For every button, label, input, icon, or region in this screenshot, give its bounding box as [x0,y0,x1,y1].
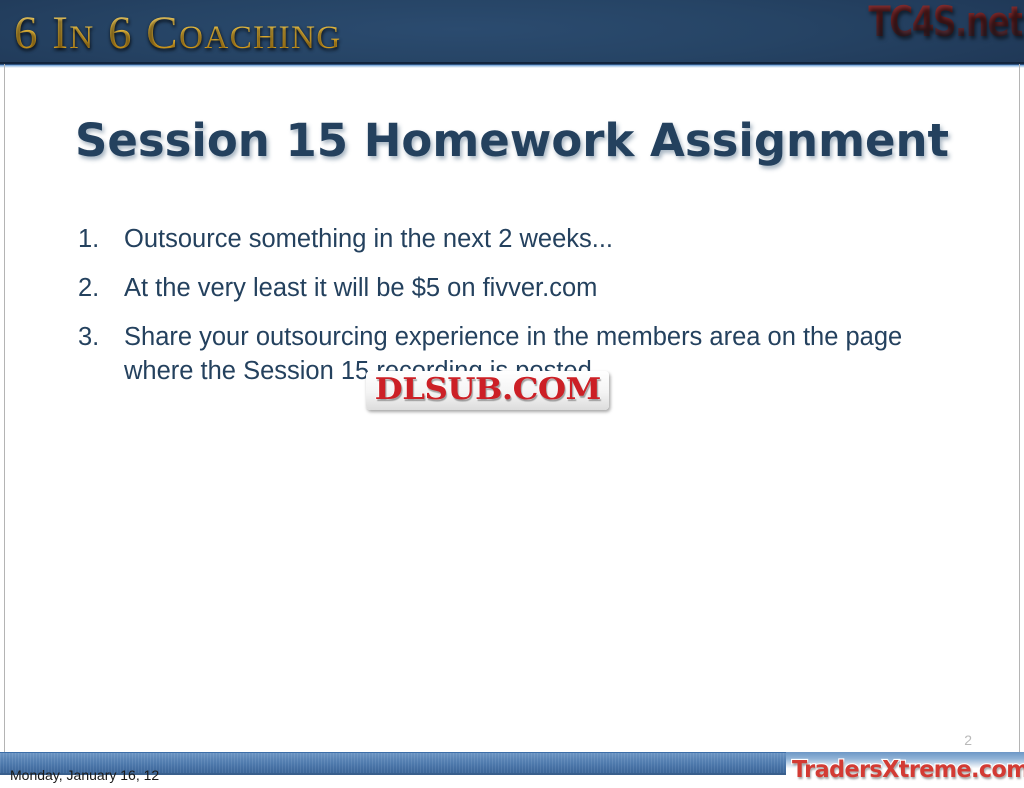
tradersxtreme-logo-container: TradersXtreme.com [786,752,1024,788]
list-item-number: 3. [78,320,124,354]
page-number: 2 [964,732,972,748]
header-banner: 6 In 6 Coaching 6 In 6 Coaching TC4S.net [0,0,1024,65]
list-item: 1. Outsource something in the next 2 wee… [78,222,978,256]
list-item-number: 1. [78,222,124,256]
header-underline-divider [0,65,1024,68]
presentation-slide: 6 In 6 Coaching 6 In 6 Coaching TC4S.net… [0,0,1024,788]
tradersxtreme-logo: TradersXtreme.com [792,756,1024,784]
list-item-text: Outsource something in the next 2 weeks.… [124,222,969,256]
slide-title: Session 15 Homework Assignment [0,112,1024,170]
dlsub-watermark: DLSUB.COM [366,371,610,410]
list-item-text: At the very least it will be $5 on fivve… [124,271,969,305]
tc4s-logo: TC4S.net [868,0,1022,48]
footer-date: Monday, January 16, 12 [10,766,159,784]
list-item-number: 2. [78,271,124,305]
brand-title: 6 In 6 Coaching [14,4,342,62]
list-item: 2. At the very least it will be $5 on fi… [78,271,978,305]
